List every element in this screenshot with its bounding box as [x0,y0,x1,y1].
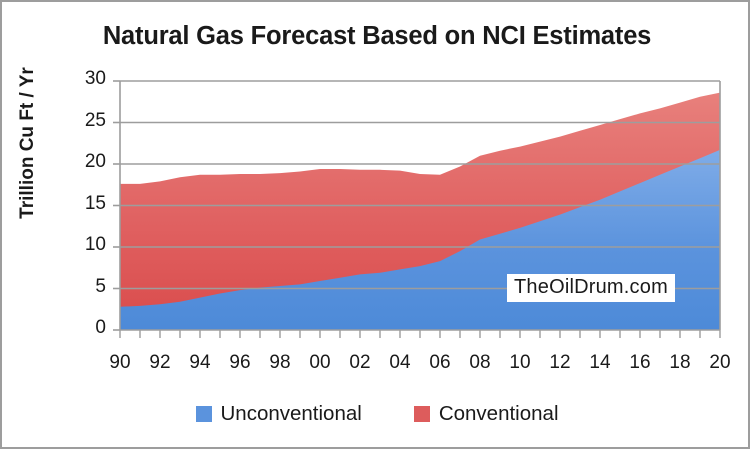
x-tick-label-02: 02 [340,352,380,374]
x-tick-label-06: 06 [420,352,460,374]
watermark-theoildrum: TheOilDrum.com [507,274,675,302]
legend-item-unconventional[interactable]: Unconventional [196,402,362,426]
chart-container: Natural Gas Forecast Based on NCI Estima… [0,0,750,449]
x-tick-label-12: 12 [540,352,580,374]
legend-label-conventional: Conventional [439,402,559,426]
x-tick-label-90: 90 [100,352,140,374]
x-tick-label-10: 10 [500,352,540,374]
x-axis-tick-labels: 90929496980002040608101214161820 [2,2,752,451]
legend-swatch-unconventional [196,406,212,422]
x-tick-label-14: 14 [580,352,620,374]
x-tick-label-96: 96 [220,352,260,374]
x-tick-label-04: 04 [380,352,420,374]
x-tick-label-92: 92 [140,352,180,374]
x-tick-label-00: 00 [300,352,340,374]
legend-label-unconventional: Unconventional [221,402,362,426]
x-tick-label-98: 98 [260,352,300,374]
x-tick-label-18: 18 [660,352,700,374]
x-tick-label-08: 08 [460,352,500,374]
legend-swatch-conventional [414,406,430,422]
chart-legend: Unconventional Conventional [2,402,752,426]
legend-item-conventional[interactable]: Conventional [414,402,559,426]
x-tick-label-16: 16 [620,352,660,374]
x-tick-label-20: 20 [700,352,740,374]
x-tick-label-94: 94 [180,352,220,374]
